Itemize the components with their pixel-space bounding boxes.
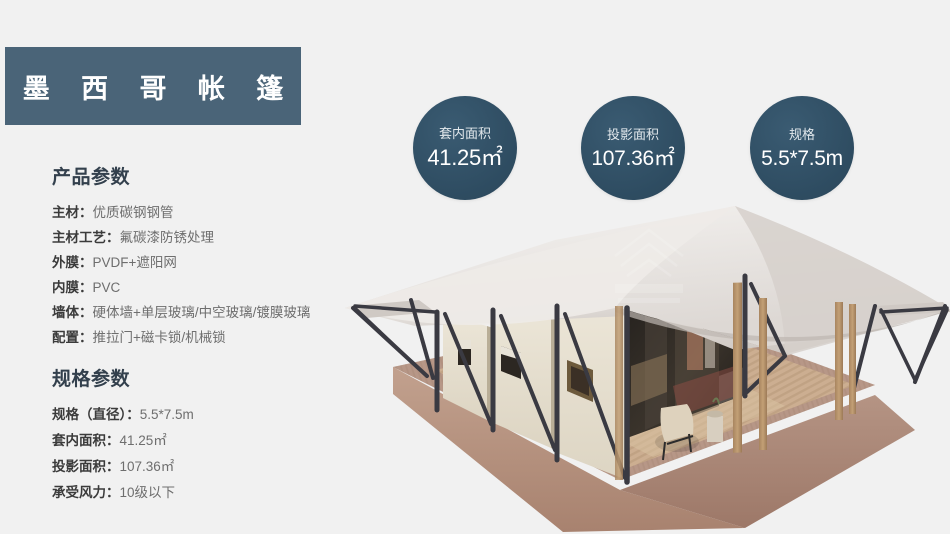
spec-key: 主材：: [52, 205, 93, 220]
spec-value: PVDF+遮阳网: [93, 255, 177, 270]
spec-key: 承受风力：: [52, 485, 120, 500]
stat-badge-value: 5.5*7.5m: [761, 148, 843, 169]
spec-value: PVC: [93, 280, 121, 295]
page-title: 墨 西 哥 帐 篷: [12, 67, 295, 106]
spec-value: 107.36㎡: [120, 459, 175, 474]
stat-badge-label: 规格: [789, 128, 815, 141]
spec-key: 规格（直径）：: [52, 407, 140, 422]
spec-key: 主材工艺：: [52, 230, 120, 245]
product-render-image: [315, 180, 950, 534]
spec-value: 氟碳漆防锈处理: [120, 230, 215, 245]
stat-badge-value: 41.25㎡: [427, 147, 502, 169]
stat-badge-label: 投影面积: [607, 128, 659, 141]
spec-key: 套内面积：: [52, 433, 120, 448]
stat-badge-value: 107.36㎡: [591, 148, 674, 169]
slide-canvas: 墨 西 哥 帐 篷 产品参数 主材：优质碳钢钢管 主材工艺：氟碳漆防锈处理 外膜…: [0, 0, 950, 534]
spec-value: 优质碳钢钢管: [93, 205, 174, 220]
spec-key: 外膜：: [52, 255, 93, 270]
spec-value: 硬体墙+单层玻璃/中空玻璃/镀膜玻璃: [93, 305, 311, 320]
page-title-banner: 墨 西 哥 帐 篷: [5, 47, 301, 125]
spec-key: 投影面积：: [52, 459, 120, 474]
spec-value: 推拉门+磁卡锁/机械锁: [93, 330, 226, 345]
spec-key: 配置：: [52, 330, 93, 345]
spec-key: 内膜：: [52, 280, 93, 295]
spec-value: 5.5*7.5m: [140, 407, 194, 422]
stat-badge-label: 套内面积: [439, 127, 491, 140]
spec-value: 10级以下: [120, 485, 176, 500]
spec-key: 墙体：: [52, 305, 93, 320]
spec-value: 41.25㎡: [120, 433, 167, 448]
